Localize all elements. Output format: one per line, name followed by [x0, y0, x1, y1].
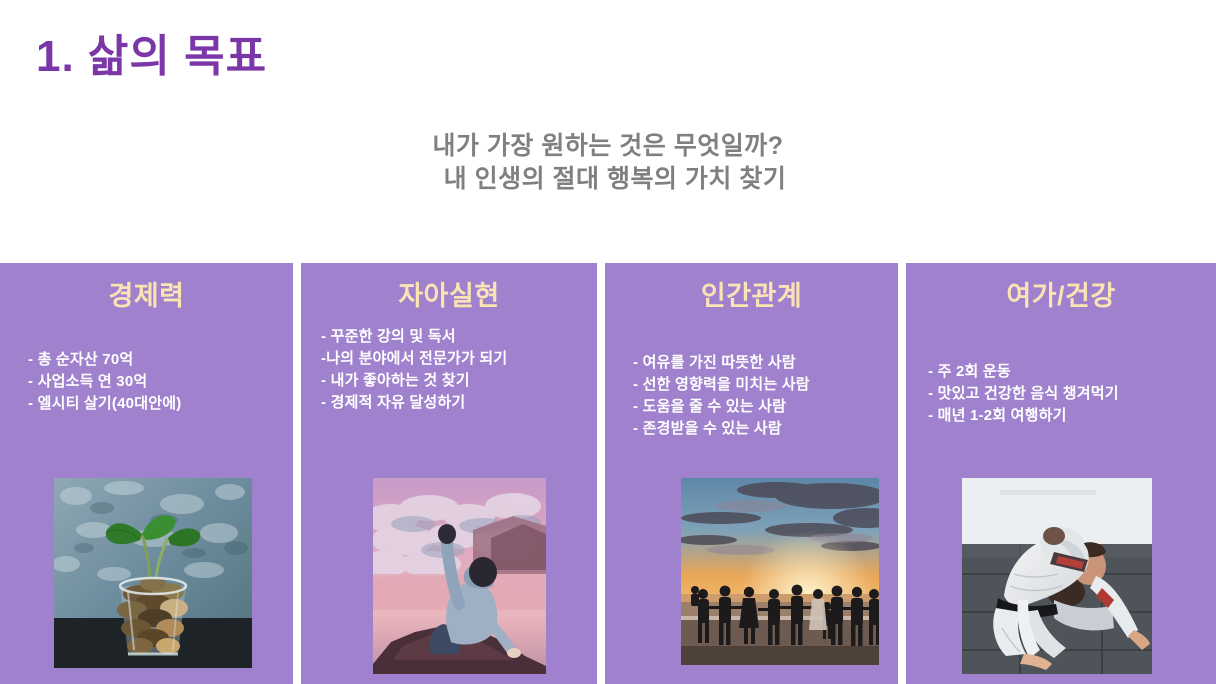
- bullet-item: - 매년 1-2회 여행하기: [928, 405, 1216, 427]
- people-holding-hands-sunset-beach-photo: [681, 478, 879, 665]
- card-title-human-relations: 인간관계: [701, 282, 802, 312]
- bullet-item: - 주 2회 운동: [928, 361, 1216, 383]
- card-bullets-self-realization: - 꾸준한 강의 및 독서 -나의 분야에서 전문가가 되기 - 내가 좋아하는…: [301, 326, 597, 414]
- card-title-economic-power: 경제력: [109, 282, 185, 312]
- card-title-self-realization: 자아실현: [398, 282, 499, 312]
- bullet-item: - 내가 좋아하는 것 찾기: [321, 370, 597, 392]
- bullet-item: - 선한 영향력을 미치는 사람: [633, 374, 898, 396]
- card-title-leisure-health: 여가/건강: [1006, 282, 1115, 312]
- goal-card-row: 경제력 - 총 순자산 70억 - 사업소득 연 30억 - 엘시티 살기(40…: [0, 263, 1216, 684]
- bullet-item: - 엘시티 살기(40대안에): [28, 393, 293, 415]
- bullet-item: - 여유를 가진 따뜻한 사람: [633, 352, 898, 374]
- page-title: 1. 삶의 목표: [36, 20, 267, 84]
- bullet-item: - 도움을 줄 수 있는 사람: [633, 396, 898, 418]
- coins-jar-with-sprout-photo: [54, 478, 252, 668]
- card-bullets-economic-power: - 총 순자산 70억 - 사업소득 연 30억 - 엘시티 살기(40대안에): [0, 349, 293, 415]
- bullet-item: - 총 순자산 70억: [28, 349, 293, 371]
- goal-card-economic-power[interactable]: 경제력 - 총 순자산 70억 - 사업소득 연 30억 - 엘시티 살기(40…: [0, 263, 293, 684]
- bullet-item: - 사업소득 연 30억: [28, 371, 293, 393]
- mountaintop-raised-fist-photo: [373, 478, 546, 674]
- bullet-item: - 경제적 자유 달성하기: [321, 392, 597, 414]
- card-bullets-leisure-health: - 주 2회 운동 - 맛있고 건강한 음식 챙겨먹기 - 매년 1-2회 여행…: [906, 361, 1216, 427]
- bullet-item: - 존경받을 수 있는 사람: [633, 418, 898, 440]
- bullet-item: - 맛있고 건강한 음식 챙겨먹기: [928, 383, 1216, 405]
- goal-card-self-realization[interactable]: 자아실현 - 꾸준한 강의 및 독서 -나의 분야에서 전문가가 되기 - 내가…: [301, 263, 597, 684]
- bullet-item: -나의 분야에서 전문가가 되기: [321, 348, 597, 370]
- goal-card-leisure-health[interactable]: 여가/건강 - 주 2회 운동 - 맛있고 건강한 음식 챙겨먹기 - 매년 1…: [906, 263, 1216, 684]
- goal-card-human-relations[interactable]: 인간관계 - 여유를 가진 따뜻한 사람 - 선한 영향력을 미치는 사람 - …: [605, 263, 898, 684]
- jiu-jitsu-sparring-photo: [962, 478, 1152, 674]
- slide-subtitle: 내가 가장 원하는 것은 무엇일까? 내 인생의 절대 행복의 가치 찾기: [0, 130, 1216, 197]
- subtitle-line-1: 내가 가장 원하는 것은 무엇일까?: [0, 130, 1216, 163]
- card-bullets-human-relations: - 여유를 가진 따뜻한 사람 - 선한 영향력을 미치는 사람 - 도움을 줄…: [605, 352, 898, 440]
- slide-canvas: 1. 삶의 목표 내가 가장 원하는 것은 무엇일까? 내 인생의 절대 행복의…: [0, 0, 1216, 684]
- subtitle-line-2: 내 인생의 절대 행복의 가치 찾기: [0, 163, 1216, 196]
- bullet-item: - 꾸준한 강의 및 독서: [321, 326, 597, 348]
